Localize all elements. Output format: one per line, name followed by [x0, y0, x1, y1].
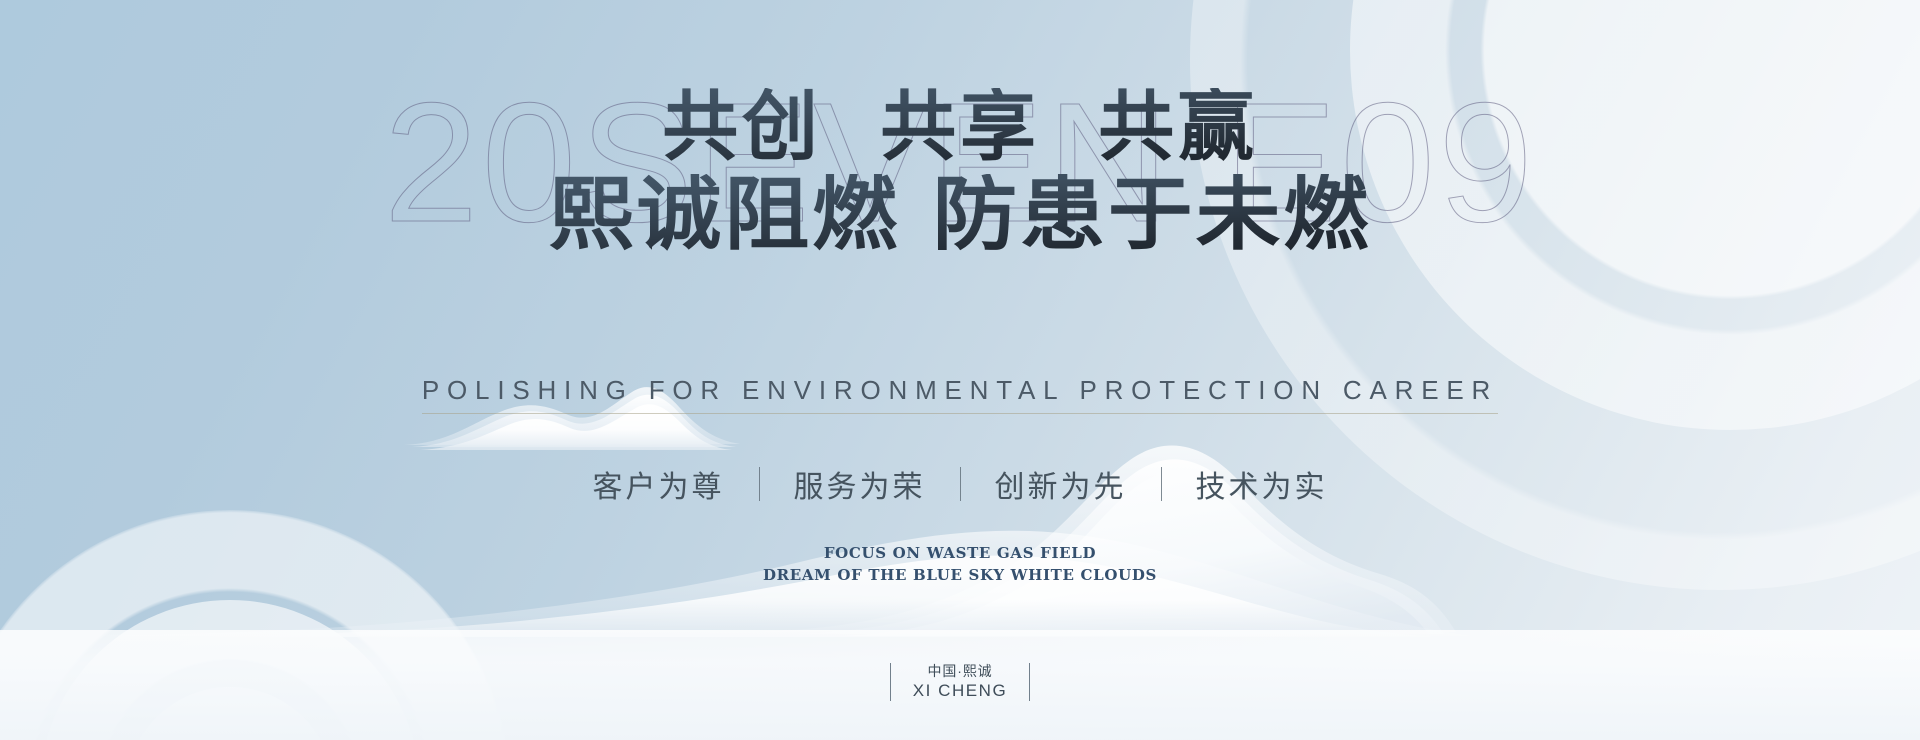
subtitle-text: POLISHING FOR ENVIRONMENTAL PROTECTION C… [422, 375, 1498, 414]
value-separator-1 [759, 467, 760, 501]
headline-block: 共创 共享 共赢 熙诚阻燃 防患于未燃 [0, 88, 1920, 255]
value-phrase-1: 客户为尊 [559, 462, 759, 506]
headline-line-1-part-3: 共赢 [1098, 82, 1258, 171]
value-phrase-4: 技术为实 [1162, 462, 1362, 506]
value-phrase-3: 创新为先 [961, 462, 1161, 506]
logo-bar-left [890, 663, 891, 701]
value-separator-3 [1161, 467, 1162, 501]
logo-text: 中国·熙诚 XI CHENG [913, 662, 1007, 702]
headline-line-1-part-2: 共享 [880, 82, 1040, 171]
headline-line-1: 共创 共享 共赢 [0, 88, 1920, 166]
logo-text-en: XI CHENG [913, 680, 1007, 702]
english-couplet: FOCUS ON WASTE GAS FIELD DREAM OF THE BL… [0, 543, 1920, 587]
headline-line-2: 熙诚阻燃 防患于未燃 [0, 174, 1920, 256]
logo-bar-right [1029, 663, 1030, 701]
headline-line-1-part-1: 共创 [662, 82, 822, 171]
value-separator-2 [960, 467, 961, 501]
logo-text-cn: 中国·熙诚 [913, 662, 1007, 680]
promotional-banner: 20SEVEN E09 [0, 0, 1920, 740]
brand-logo: 中国·熙诚 XI CHENG [0, 662, 1920, 702]
value-phrase-2: 服务为荣 [760, 462, 960, 506]
couplet-line-2: DREAM OF THE BLUE SKY WHITE CLOUDS [0, 565, 1920, 587]
subtitle-block: POLISHING FOR ENVIRONMENTAL PROTECTION C… [0, 375, 1920, 414]
couplet-line-1: FOCUS ON WASTE GAS FIELD [0, 543, 1920, 565]
value-phrase-list: 客户为尊 服务为荣 创新为先 技术为实 [0, 462, 1920, 506]
